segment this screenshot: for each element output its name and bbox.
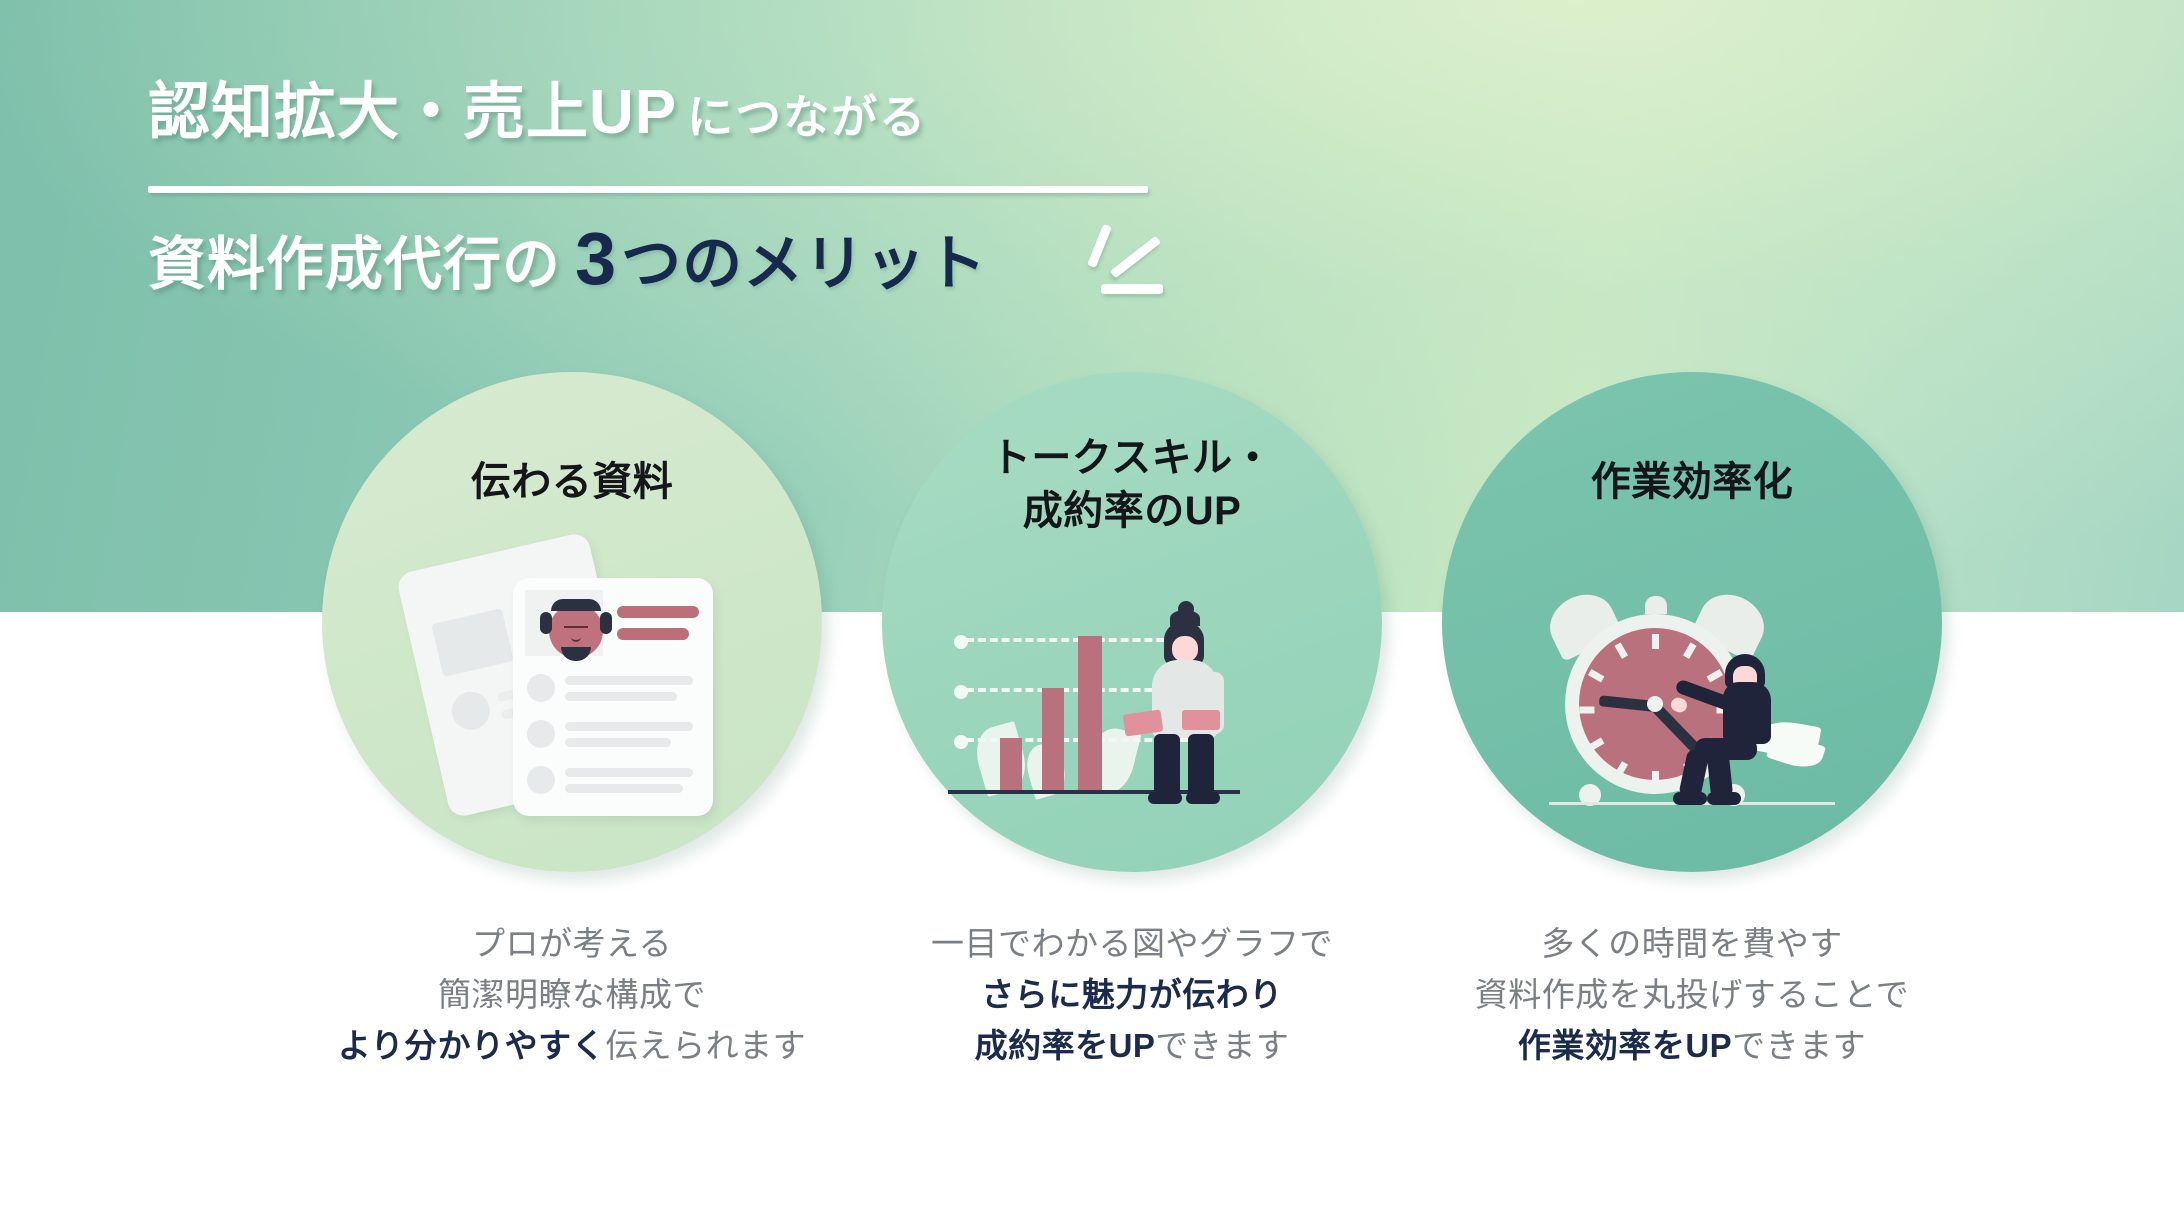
headline-underline [148, 186, 1148, 193]
caption-line: 成約率をUPできます [852, 1020, 1412, 1071]
headline-number: 3 [575, 217, 617, 300]
benefit-title-2: トークスキル・ 成約率のUP [882, 432, 1382, 538]
benefit-circle-3: 作業効率化 [1442, 372, 1942, 872]
caption-emphasis: さらに魅力が伝わり [981, 976, 1283, 1013]
headline-line-2: 資料作成代行の3つのメリット [148, 218, 987, 301]
money-bill-icon [1182, 710, 1220, 730]
caption-line: 多くの時間を費やす [1412, 918, 1972, 969]
headline-line-2-suffix: つのメリット [621, 230, 987, 297]
bar-1 [1000, 738, 1022, 794]
headline-block: 認知拡大・売上UPにつながる 資料作成代行の3つのメリット [148, 78, 1398, 147]
documents-illustration [417, 524, 727, 824]
caption-line: 簡潔明瞭な構成で [292, 969, 852, 1020]
benefit-caption-3: 多くの時間を費やす 資料作成を丸投げすることで 作業効率をUPできます [1412, 918, 1972, 1071]
benefit-title-2-line-2: 成約率のUP [882, 485, 1382, 538]
benefit-circle-2: トークスキル・ 成約率のUP [882, 372, 1382, 872]
benefit-title-1: 伝わる資料 [322, 456, 822, 509]
caption-emphasis: より分かりやすく [338, 1027, 605, 1064]
caption-line: 資料作成を丸投げすることで [1412, 969, 1972, 1020]
caption-emphasis: 作業効率をUP [1518, 1027, 1732, 1064]
caption-plain: できます [1155, 1027, 1289, 1064]
caption-plain: できます [1732, 1027, 1866, 1064]
bar-3 [1078, 636, 1102, 794]
headset-person-icon [549, 604, 603, 658]
headline-line-1: 認知拡大・売上UPにつながる [148, 78, 1398, 147]
headline-line-1-main: 認知拡大・売上UP [148, 78, 677, 147]
benefit-caption-1: プロが考える 簡潔明瞭な構成で より分かりやすく伝えられます [292, 918, 852, 1071]
benefit-title-3: 作業効率化 [1442, 456, 1942, 509]
caption-line: 作業効率をUPできます [1412, 1020, 1972, 1071]
bar-2 [1042, 688, 1064, 794]
headline-line-1-suffix: につながる [687, 91, 927, 143]
person-pulling-clock-icon [1699, 654, 1829, 810]
slide-canvas: 認知拡大・売上UPにつながる 資料作成代行の3つのメリット 伝わる資料 [0, 0, 2184, 1228]
headline-line-2-prefix: 資料作成代行の [148, 232, 561, 297]
benefit-caption-2: 一目でわかる図やグラフで さらに魅力が伝わり 成約率をUPできます [852, 918, 1412, 1071]
sparkle-icon [1075, 222, 1185, 312]
bar-chart-illustration [942, 604, 1322, 814]
benefit-title-2-line-1: トークスキル・ [882, 432, 1382, 485]
caption-plain: 伝えられます [605, 1027, 806, 1064]
person-with-money-icon [1138, 610, 1248, 800]
document-front-page-icon [513, 578, 713, 816]
caption-line: より分かりやすく伝えられます [292, 1020, 852, 1071]
caption-line: さらに魅力が伝わり [852, 969, 1412, 1020]
alarm-clock-illustration [1527, 590, 1857, 820]
caption-emphasis: 成約率をUP [975, 1027, 1156, 1064]
caption-line: 一目でわかる図やグラフで [852, 918, 1412, 969]
benefit-circle-1: 伝わる資料 [322, 372, 822, 872]
caption-line: プロが考える [292, 918, 852, 969]
